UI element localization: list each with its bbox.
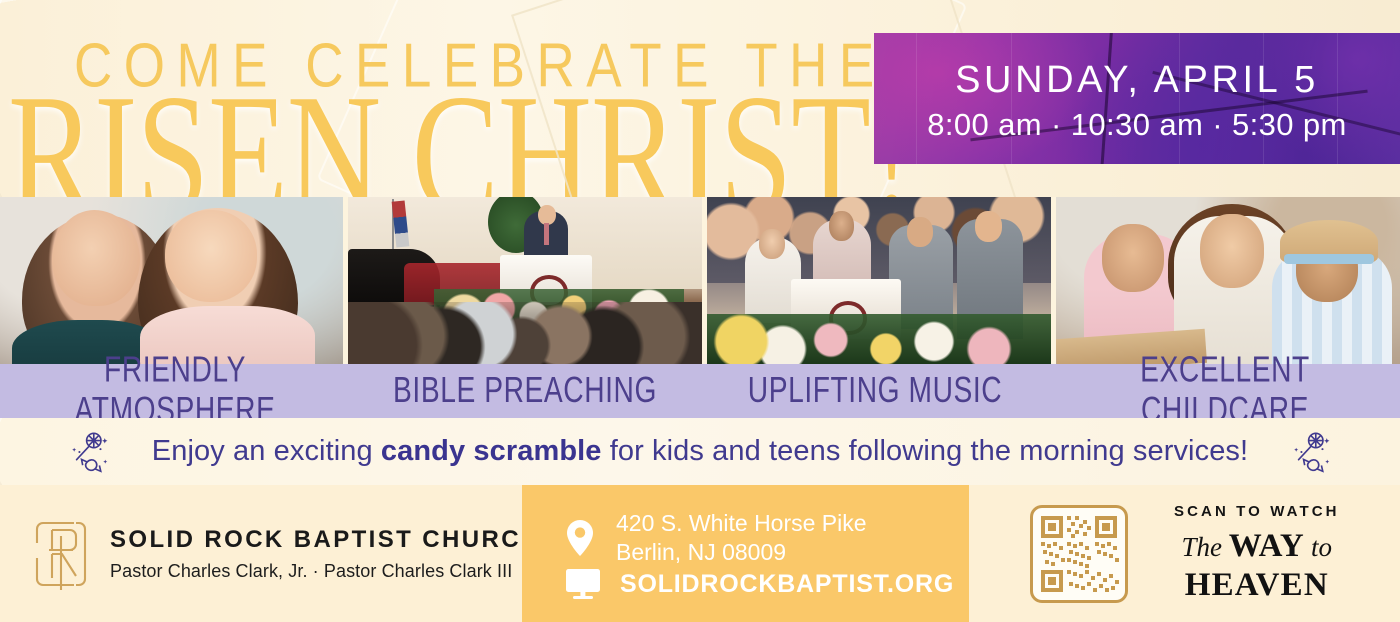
candy-scramble-text: Enjoy an exciting candy scramble for kid… xyxy=(152,435,1248,468)
candy-text-before: Enjoy an exciting xyxy=(152,435,381,467)
website-url[interactable]: SOLIDROCKBAPTIST.ORG xyxy=(620,570,954,599)
address-line-1: 420 S. White Horse Pike xyxy=(616,509,867,538)
map-pin-icon xyxy=(566,520,594,556)
photo-subject xyxy=(907,217,933,247)
two-girls-hugging-photo xyxy=(0,197,343,364)
address-text: 420 S. White Horse Pike Berlin, NJ 08009 xyxy=(616,509,867,568)
address-row: 420 S. White Horse Pike Berlin, NJ 08009 xyxy=(566,509,867,568)
photo-detail xyxy=(1284,254,1374,264)
photo-detail xyxy=(544,223,549,245)
qr-code-icon[interactable] xyxy=(1030,505,1128,603)
easter-service-banner: COME CELEBRATE THE RISEN CHRIST! SUNDAY,… xyxy=(0,0,1400,622)
way-title-to: to xyxy=(1304,532,1332,562)
address-line-2: Berlin, NJ 08009 xyxy=(616,538,867,567)
photo-subject xyxy=(165,210,257,302)
hero-headline: RISEN CHRIST! xyxy=(8,68,885,197)
photo-subject xyxy=(538,205,556,225)
photo-subject xyxy=(1102,224,1164,292)
footer: SOLID ROCK BAPTIST CHURCH Pastor Charles… xyxy=(0,485,1400,622)
feature-band: FRIENDLY ATMOSPHERE BIBLE PREACHING UPLI… xyxy=(0,364,1400,418)
church-text-block: SOLID ROCK BAPTIST CHURCH Pastor Charles… xyxy=(110,526,541,582)
church-name: SOLID ROCK BAPTIST CHURCH xyxy=(110,526,541,554)
website-row[interactable]: SOLIDROCKBAPTIST.ORG xyxy=(566,569,954,599)
candy-text-bold: candy scramble xyxy=(381,435,602,467)
scan-label: SCAN TO WATCH xyxy=(1174,503,1340,520)
solid-rock-monogram-icon xyxy=(32,518,90,590)
candy-scramble-strip: Enjoy an exciting candy scramble for kid… xyxy=(0,418,1400,485)
monitor-icon xyxy=(566,569,600,599)
feature-uplifting-music: UPLIFTING MUSIC xyxy=(711,371,1040,412)
service-times-card: SUNDAY, APRIL 5 8:00 am · 10:30 am · 5:3… xyxy=(874,33,1400,164)
photo-subject xyxy=(975,211,1002,242)
service-date: SUNDAY, APRIL 5 xyxy=(874,59,1400,102)
photo-subject xyxy=(829,211,854,241)
photo-detail xyxy=(348,302,702,364)
church-pastors: Pastor Charles Clark, Jr. · Pastor Charl… xyxy=(110,561,541,582)
way-title-the: The xyxy=(1182,532,1229,562)
church-identity-block: SOLID ROCK BAPTIST CHURCH Pastor Charles… xyxy=(0,485,522,622)
pastor-preaching-photo xyxy=(348,197,702,364)
photo-subject xyxy=(1200,214,1264,288)
photo-detail xyxy=(707,314,1052,364)
scan-to-watch-block: SCAN TO WATCH The WAY to HEAVEN xyxy=(969,485,1400,622)
service-times: 8:00 am · 10:30 am · 5:30 pm xyxy=(874,107,1400,143)
photo-subject xyxy=(52,210,140,306)
way-title-way: WAY xyxy=(1229,528,1304,564)
way-title-heaven: HEAVEN xyxy=(1174,567,1340,604)
candy-text-after: for kids and teens following the morning… xyxy=(602,435,1249,467)
contact-box: 420 S. White Horse Pike Berlin, NJ 08009… xyxy=(522,485,969,622)
feature-bible-preaching: BIBLE PREACHING xyxy=(361,371,690,412)
photo-strip xyxy=(0,197,1400,364)
scan-text-block: SCAN TO WATCH The WAY to HEAVEN xyxy=(1174,503,1340,604)
way-title-line: The WAY to xyxy=(1174,528,1340,565)
candy-lollipop-icon xyxy=(66,430,112,474)
photo-subject xyxy=(759,229,785,259)
candy-lollipop-icon xyxy=(1288,430,1334,474)
children-childcare-photo xyxy=(1056,197,1400,364)
choir-singing-photo xyxy=(707,197,1052,364)
